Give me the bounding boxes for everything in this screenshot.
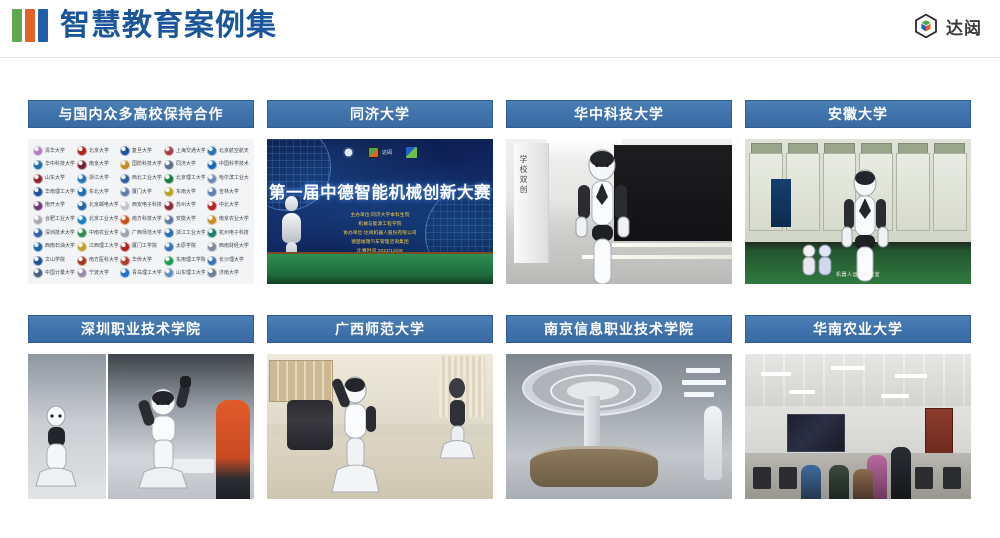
university-logo-item: 北京航空航天大学 bbox=[207, 145, 249, 158]
service-robot-icon bbox=[704, 406, 722, 480]
university-logo-item: 江西理工大学 bbox=[77, 241, 119, 254]
university-name: 清华大学 bbox=[45, 148, 65, 155]
university-seal-icon bbox=[164, 228, 174, 238]
university-seal-icon bbox=[120, 268, 130, 278]
university-name: 华南理工大学 bbox=[45, 189, 75, 196]
university-seal-icon bbox=[207, 160, 217, 170]
header-divider bbox=[0, 57, 1000, 58]
university-name: 山东理工大学 bbox=[176, 270, 206, 277]
university-seal-icon bbox=[33, 228, 43, 238]
university-logo-item: 厦门大学 bbox=[120, 186, 162, 199]
student-figure bbox=[829, 465, 849, 499]
card-media-hust: 学校双创 bbox=[506, 139, 732, 284]
university-seal-icon bbox=[207, 174, 217, 184]
accent-bar-blue bbox=[38, 9, 48, 42]
university-name: 北京工业大学 bbox=[89, 216, 119, 223]
circular-reception-desk bbox=[530, 446, 658, 487]
university-name: 同济大学 bbox=[176, 162, 196, 169]
service-robot-right-icon bbox=[137, 376, 191, 488]
card-title-partner-universities: 与国内众多高校保持合作 bbox=[28, 100, 254, 128]
university-name: 东南大学 bbox=[176, 189, 196, 196]
university-seal-icon bbox=[77, 160, 87, 170]
university-seal-icon bbox=[120, 228, 130, 238]
university-logo-item: 东北大学 bbox=[77, 186, 119, 199]
university-seal-icon bbox=[164, 187, 174, 197]
humanoid-robot-figure-icon bbox=[842, 170, 888, 281]
university-name: 安徽大学 bbox=[176, 216, 196, 223]
university-seal-icon bbox=[207, 228, 217, 238]
university-name: 济南大学 bbox=[219, 270, 239, 277]
university-logo-item: 宁波大学 bbox=[77, 268, 119, 278]
photo-caption: 机器人运动实验室 bbox=[745, 271, 971, 278]
university-logo-item: 南方科技大学 bbox=[120, 213, 162, 226]
case-card-nanjing-vocational-college[interactable]: 南京信息职业技术学院 bbox=[506, 315, 732, 499]
photo-guangxi-lab bbox=[267, 354, 493, 499]
card-title-nanjing-vocational-college: 南京信息职业技术学院 bbox=[506, 315, 732, 343]
university-seal-icon bbox=[120, 174, 130, 184]
university-name: 华中科技大学 bbox=[45, 162, 75, 169]
brand-logo: 达闼 bbox=[913, 13, 982, 39]
ceiling-light bbox=[686, 368, 720, 373]
university-name: 南方医科大学 bbox=[89, 257, 119, 264]
case-card-scau[interactable]: 华南农业大学 bbox=[745, 315, 971, 499]
university-name: 南方科技大学 bbox=[132, 216, 162, 223]
page-title-group: 智慧教育案例集 bbox=[12, 9, 277, 42]
university-logo-item: 东用理工学院 bbox=[164, 254, 206, 267]
university-logo-item: 华中科技大学 bbox=[33, 159, 75, 172]
university-name: 国防科技大学 bbox=[132, 162, 162, 169]
university-seal-icon bbox=[207, 242, 217, 252]
university-seal-icon bbox=[207, 146, 217, 156]
large-display-screen bbox=[787, 414, 845, 452]
accent-bars-icon bbox=[12, 9, 48, 42]
university-logo-item: 文山学院 bbox=[33, 254, 75, 267]
university-logo-item: 中北大学 bbox=[207, 200, 249, 213]
university-logo-item: 中国计量大学 bbox=[33, 268, 75, 278]
university-logo-item: 北京邮电大学 bbox=[77, 200, 119, 213]
university-logo-item: 上海交通大学 bbox=[164, 145, 206, 158]
accent-bar-green bbox=[12, 9, 22, 42]
university-name: 北京大学 bbox=[89, 148, 109, 155]
poster-logo-row: 达闼 bbox=[267, 147, 493, 158]
photo-hust-corridor: 学校双创 bbox=[506, 139, 732, 284]
university-logo-item: 厦门工学院 bbox=[120, 241, 162, 254]
university-seal-icon bbox=[120, 160, 130, 170]
university-name: 西南石油大学 bbox=[45, 244, 75, 251]
service-robot-front-icon bbox=[331, 377, 379, 492]
university-logo-grid: 清华大学北京大学复旦大学上海交通大学北京航空航天大学华中科技大学南京大学国防科技… bbox=[28, 139, 254, 284]
ceiling-lamp bbox=[761, 372, 791, 376]
service-robot-back-icon bbox=[440, 378, 474, 458]
university-seal-icon bbox=[77, 228, 87, 238]
university-name: 中北大学 bbox=[219, 203, 239, 210]
university-name: 浙江工业大学 bbox=[176, 230, 206, 237]
university-logo-item: 北京大学 bbox=[77, 145, 119, 158]
university-seal-icon bbox=[33, 215, 43, 225]
card-media-nanjing-vocational-college bbox=[506, 354, 732, 499]
university-name: 西南财经大学天府学院 bbox=[219, 244, 249, 251]
university-name: 上海交通大学 bbox=[176, 148, 206, 155]
case-card-anhui-university[interactable]: 安徽大学 bbox=[745, 100, 971, 284]
university-name: 深圳技术大学 bbox=[45, 230, 75, 237]
university-logo-item: 华南理工大学 bbox=[33, 186, 75, 199]
university-seal-icon bbox=[33, 268, 43, 278]
university-logo-item: 广西师范大学 bbox=[120, 227, 162, 240]
university-logo-item: 合肥工业大学 bbox=[33, 213, 75, 226]
student-figure bbox=[853, 469, 873, 499]
university-name: 东用理工学院 bbox=[176, 257, 206, 264]
university-seal-icon bbox=[207, 256, 217, 266]
university-seal-icon bbox=[77, 187, 87, 197]
photo-scau-classroom bbox=[745, 354, 971, 499]
university-seal-icon bbox=[77, 174, 87, 184]
university-logo-item: 国防科技大学 bbox=[120, 159, 162, 172]
university-name: 东北大学 bbox=[89, 189, 109, 196]
university-name: 文山学院 bbox=[45, 257, 65, 264]
university-logo-item: 苏州大学 bbox=[164, 200, 206, 213]
university-name: 合肥工业大学 bbox=[45, 216, 75, 223]
ceiling-lamp bbox=[831, 366, 865, 370]
card-media-scau bbox=[745, 354, 971, 499]
university-name: 江西理工大学 bbox=[89, 244, 119, 251]
card-title-shenzhen-polytechnic: 深圳职业技术学院 bbox=[28, 315, 254, 343]
university-logo-item: 清华大学 bbox=[33, 145, 75, 158]
university-name: 中国科学技术大学 bbox=[219, 162, 249, 169]
university-seal-icon bbox=[120, 215, 130, 225]
page-title: 智慧教育案例集 bbox=[60, 11, 277, 41]
case-card-hust[interactable]: 华中科技大学 学校双创 bbox=[506, 100, 732, 284]
university-name: 厦门工学院 bbox=[132, 244, 157, 251]
student-figure bbox=[891, 447, 911, 499]
university-seal-icon bbox=[33, 174, 43, 184]
university-name: 山东大学 bbox=[45, 175, 65, 182]
university-seal-icon bbox=[207, 201, 217, 211]
university-name: 厦门大学 bbox=[132, 189, 152, 196]
university-logo-item: 安徽大学 bbox=[164, 213, 206, 226]
university-name: 南京农业大学 bbox=[219, 216, 249, 223]
brand-name: 达闼 bbox=[946, 14, 982, 39]
photo-nanjing-lobby bbox=[506, 354, 732, 499]
university-logo-item: 青岛理工大学 bbox=[120, 268, 162, 278]
university-seal-icon bbox=[33, 242, 43, 252]
poster-billiard-table bbox=[267, 252, 493, 284]
university-seal-icon bbox=[120, 201, 130, 211]
university-logo-item: 中南农业大学 bbox=[77, 227, 119, 240]
university-seal-icon bbox=[77, 201, 87, 211]
university-logo-item: 西南石油大学 bbox=[33, 241, 75, 254]
card-title-scau: 华南农业大学 bbox=[745, 315, 971, 343]
page-header: 智慧教育案例集 达闼 bbox=[0, 0, 1000, 58]
desktop-computer bbox=[943, 467, 961, 489]
university-seal-icon bbox=[120, 146, 130, 156]
university-seal-icon bbox=[120, 256, 130, 266]
university-seal-icon bbox=[77, 268, 87, 278]
university-seal-icon bbox=[207, 187, 217, 197]
classroom-ceiling bbox=[745, 354, 971, 406]
university-name: 长沙理大学 bbox=[219, 257, 244, 264]
university-seal-icon bbox=[164, 160, 174, 170]
accent-bar-orange bbox=[25, 9, 35, 42]
ceiling-lamp bbox=[895, 374, 927, 378]
university-logo-item: 深圳技术大学 bbox=[33, 227, 75, 240]
university-name: 北京邮电大学 bbox=[89, 203, 119, 210]
photo-shenzhen-robots bbox=[28, 354, 254, 499]
university-seal-icon bbox=[207, 268, 217, 278]
card-title-guangxi-normal-university: 广西师范大学 bbox=[267, 315, 493, 343]
university-name: 浙江大学 bbox=[89, 175, 109, 182]
university-logo-item: 吉林大学 bbox=[207, 186, 249, 199]
desktop-computer bbox=[753, 467, 771, 489]
university-seal-icon bbox=[164, 256, 174, 266]
card-media-anhui-university: 机器人运动实验室 bbox=[745, 139, 971, 284]
university-logo-item: 山东大学 bbox=[33, 172, 75, 185]
case-card-shenzhen-polytechnic[interactable]: 深圳职业技术学院 bbox=[28, 315, 254, 499]
photo-anhui-lab: 机器人运动实验室 bbox=[745, 139, 971, 284]
university-name: 宁波大学 bbox=[89, 270, 109, 277]
university-name: 广西师范大学 bbox=[132, 230, 162, 237]
university-logo-item: 北京工业大学 bbox=[77, 213, 119, 226]
service-robot-left-icon bbox=[36, 406, 76, 486]
university-name: 北京航空航天大学 bbox=[219, 148, 249, 155]
university-seal-icon bbox=[120, 187, 130, 197]
university-name: 青岛理工大学 bbox=[132, 270, 162, 277]
case-card-guangxi-normal-university[interactable]: 广西师范大学 bbox=[267, 315, 493, 499]
university-logo-item: 浙江大学 bbox=[77, 172, 119, 185]
ceiling-lamp bbox=[789, 390, 815, 394]
university-logo-item: 哈尔滨工业大学 bbox=[207, 172, 249, 185]
desktop-computer bbox=[915, 467, 933, 489]
university-logo-item: 西南财经大学天府学院 bbox=[207, 241, 249, 254]
competition-poster: 达闼 第一届中德智能机械创新大赛 主办单位:同济大学本科生院机械与能源工程学院协… bbox=[267, 139, 493, 284]
university-name: 华侨大学 bbox=[132, 257, 152, 264]
university-logo-item: 中国科学技术大学 bbox=[207, 159, 249, 172]
university-seal-icon bbox=[77, 242, 87, 252]
university-logo-item: 东南大学 bbox=[164, 186, 206, 199]
card-title-anhui-university: 安徽大学 bbox=[745, 100, 971, 128]
university-name: 中南农业大学 bbox=[89, 230, 119, 237]
university-logo-item: 西安电子科技大学 bbox=[120, 200, 162, 213]
university-seal-icon bbox=[164, 146, 174, 156]
university-seal-icon bbox=[164, 242, 174, 252]
university-logo-item: 山东理工大学 bbox=[164, 268, 206, 278]
university-logo-item: 复旦大学 bbox=[120, 145, 162, 158]
university-logo-item: 同济大学 bbox=[164, 159, 206, 172]
university-name: 中国计量大学 bbox=[45, 270, 75, 277]
university-seal-icon bbox=[33, 160, 43, 170]
card-media-tongji-university: 达闼 第一届中德智能机械创新大赛 主办单位:同济大学本科生院机械与能源工程学院协… bbox=[267, 139, 493, 284]
university-logo-item: 太原学院 bbox=[164, 241, 206, 254]
university-seal-icon bbox=[164, 215, 174, 225]
university-seal-icon bbox=[33, 146, 43, 156]
card-media-partner-universities: 清华大学北京大学复旦大学上海交通大学北京航空航天大学华中科技大学南京大学国防科技… bbox=[28, 139, 254, 284]
university-logo-item: 南方医科大学 bbox=[77, 254, 119, 267]
university-seal-icon bbox=[77, 146, 87, 156]
university-name: 吉林大学 bbox=[219, 189, 239, 196]
university-name: 杭州电子科技大学 bbox=[219, 230, 249, 237]
desktop-computer bbox=[779, 467, 797, 489]
university-seal-icon bbox=[77, 215, 87, 225]
university-logo-item: 浙江工业大学 bbox=[164, 227, 206, 240]
university-logo-item: 杭州电子科技大学 bbox=[207, 227, 249, 240]
case-card-tongji-university[interactable]: 同济大学 达闼 第一届中德智能机械创新大赛 bbox=[267, 100, 493, 284]
university-name: 西安电子科技大学 bbox=[132, 203, 162, 210]
university-name: 南京大学 bbox=[89, 162, 109, 169]
university-name: 西北工业大学 bbox=[132, 175, 162, 182]
university-seal-icon bbox=[33, 201, 43, 211]
case-card-grid: 与国内众多高校保持合作 清华大学北京大学复旦大学上海交通大学北京航空航天大学华中… bbox=[28, 100, 972, 499]
university-seal-icon bbox=[164, 201, 174, 211]
tongji-seal-icon bbox=[343, 147, 354, 158]
university-name: 太原学院 bbox=[176, 244, 196, 251]
case-card-partner-universities[interactable]: 与国内众多高校保持合作 清华大学北京大学复旦大学上海交通大学北京航空航天大学华中… bbox=[28, 100, 254, 284]
ceiling-light bbox=[682, 380, 726, 385]
university-logo-item: 北京理工大学 bbox=[164, 172, 206, 185]
university-seal-icon bbox=[120, 242, 130, 252]
hexagon-cube-icon bbox=[913, 13, 939, 39]
partner-logo-icon bbox=[406, 147, 417, 158]
university-seal-icon bbox=[164, 174, 174, 184]
card-media-shenzhen-polytechnic bbox=[28, 354, 254, 499]
university-seal-icon bbox=[33, 187, 43, 197]
university-logo-item: 济南大学 bbox=[207, 268, 249, 278]
university-name: 哈尔滨工业大学 bbox=[219, 175, 249, 182]
university-logo-item: 西北工业大学 bbox=[120, 172, 162, 185]
university-logo-item: 华侨大学 bbox=[120, 254, 162, 267]
university-name: 南开大学 bbox=[45, 203, 65, 210]
university-logo-item: 南京大学 bbox=[77, 159, 119, 172]
cloudminds-logo-icon: 达闼 bbox=[368, 147, 392, 158]
university-seal-icon bbox=[164, 268, 174, 278]
card-title-hust: 华中科技大学 bbox=[506, 100, 732, 128]
classroom-door bbox=[925, 408, 953, 456]
university-seal-icon bbox=[33, 256, 43, 266]
student-figure bbox=[801, 465, 821, 499]
university-logo-item: 南京农业大学 bbox=[207, 213, 249, 226]
university-name: 苏州大学 bbox=[176, 203, 196, 210]
card-title-tongji-university: 同济大学 bbox=[267, 100, 493, 128]
humanoid-robot-figure-icon bbox=[576, 150, 629, 284]
university-name: 复旦大学 bbox=[132, 148, 152, 155]
university-seal-icon bbox=[77, 256, 87, 266]
university-logo-item: 长沙理大学 bbox=[207, 254, 249, 267]
university-seal-icon bbox=[207, 215, 217, 225]
card-media-guangxi-normal-university bbox=[267, 354, 493, 499]
university-logo-item: 南开大学 bbox=[33, 200, 75, 213]
ceiling-light bbox=[684, 392, 714, 397]
ceiling-lamp bbox=[881, 394, 909, 398]
university-name: 北京理工大学 bbox=[176, 175, 206, 182]
